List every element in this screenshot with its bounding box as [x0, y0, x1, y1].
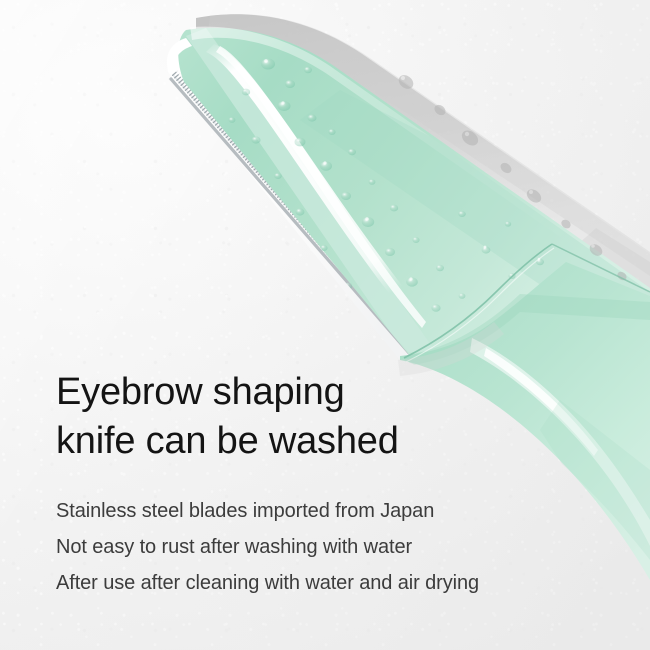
- feature-item-3: After use after cleaning with water and …: [56, 565, 616, 601]
- feature-item-1: Stainless steel blades imported from Jap…: [56, 493, 616, 529]
- feature-list: Stainless steel blades imported from Jap…: [56, 493, 616, 601]
- product-banner: Eyebrow shaping knife can be washed Stai…: [0, 0, 650, 650]
- headline-line-1: Eyebrow shaping: [56, 368, 616, 417]
- feature-item-2: Not easy to rust after washing with wate…: [56, 529, 616, 565]
- copy-block: Eyebrow shaping knife can be washed Stai…: [56, 368, 616, 601]
- headline-line-2: knife can be washed: [56, 417, 616, 466]
